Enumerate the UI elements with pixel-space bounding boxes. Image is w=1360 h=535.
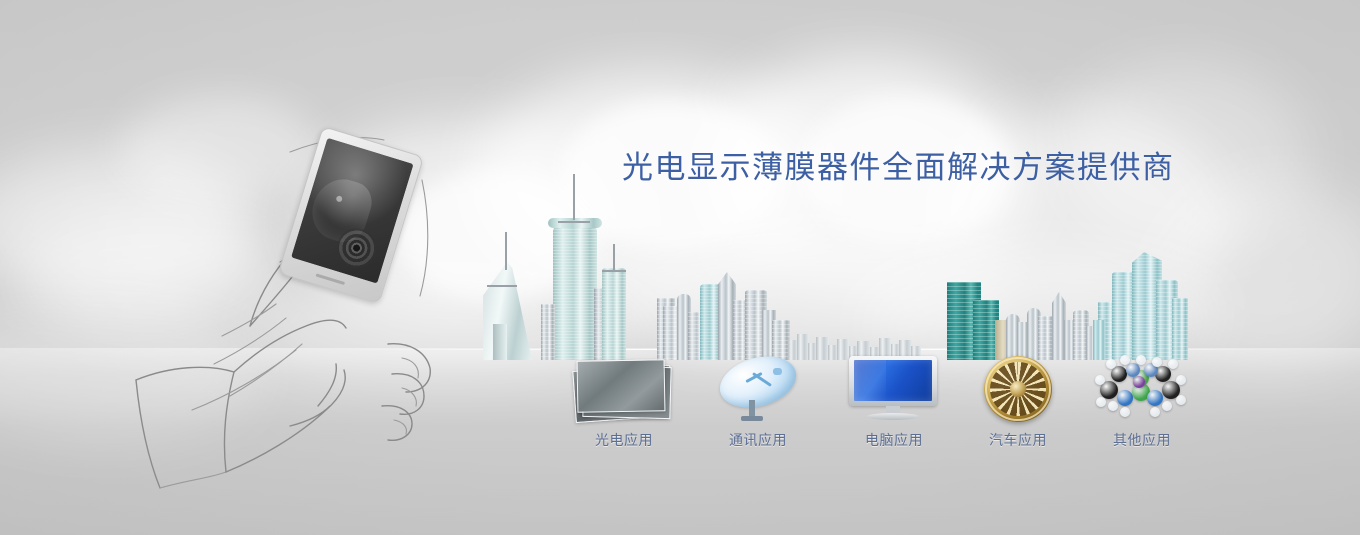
app-item-computer[interactable]: 电脑应用 (830, 352, 958, 450)
hand-with-phone-illustration (130, 120, 490, 490)
app-label: 通讯应用 (694, 430, 822, 450)
molecule-atom (1126, 363, 1140, 377)
page-title: 光电显示薄膜器件全面解决方案提供商 (622, 142, 1175, 187)
molecule-atom (1117, 390, 1133, 406)
molecule-atom (1162, 401, 1172, 411)
alloy-wheel-icon (954, 352, 1082, 424)
application-icons: 光电应用 通讯应用 (560, 352, 1200, 467)
molecule-atom (1095, 375, 1105, 385)
molecule-atom (1136, 355, 1146, 365)
molecule-atom (1120, 407, 1130, 417)
molecule-atom (1168, 359, 1178, 369)
molecule-atom (1120, 355, 1130, 365)
app-item-other[interactable]: 其他应用 (1078, 352, 1206, 450)
monitor-icon (830, 352, 958, 424)
molecule-atom (1133, 376, 1145, 388)
molecule-atom (1176, 395, 1186, 405)
molecule-icon (1078, 352, 1206, 424)
hero-banner: 光电应用 通讯应用 (0, 0, 1360, 535)
app-label: 电脑应用 (830, 430, 958, 450)
app-item-optoelectronic[interactable]: 光电应用 (560, 352, 688, 450)
app-label: 光电应用 (560, 430, 688, 450)
molecule-atom (1152, 357, 1162, 367)
app-item-communication[interactable]: 通讯应用 (694, 352, 822, 450)
molecule-atom (1150, 407, 1160, 417)
app-label: 其他应用 (1078, 430, 1206, 450)
glass-panels-icon (560, 352, 688, 424)
satellite-dish-icon (694, 352, 822, 424)
app-label: 汽车应用 (954, 430, 1082, 450)
molecule-atom (1147, 390, 1163, 406)
molecule-atom (1176, 375, 1186, 385)
molecule-atom (1108, 401, 1118, 411)
molecule-atom (1106, 359, 1116, 369)
main-tower (553, 226, 597, 360)
app-item-automotive[interactable]: 汽车应用 (954, 352, 1082, 450)
molecule-atom (1096, 397, 1106, 407)
